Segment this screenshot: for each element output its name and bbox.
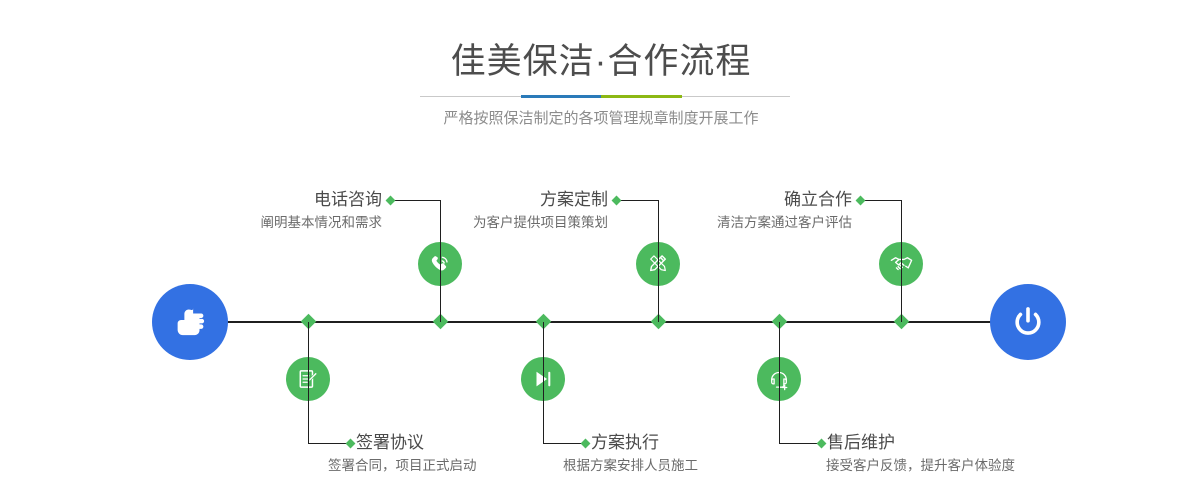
connector-h-6 [779, 443, 821, 444]
label-tick-4 [581, 439, 591, 449]
step-title-2: 签署协议 [356, 431, 477, 455]
connector-v-5 [901, 200, 902, 322]
step-label-6: 售后维护 接受客户反馈，提升客户体验度 [827, 431, 1015, 476]
page-title: 佳美保洁·合作流程 [0, 40, 1202, 84]
connector-v-6 [779, 322, 780, 444]
step-desc-2: 签署合同，项目正式启动 [328, 455, 477, 476]
step-title-6: 售后维护 [827, 431, 1015, 455]
connector-h-2 [308, 443, 350, 444]
step-desc-4: 根据方案安排人员施工 [563, 455, 698, 476]
step-label-3: 方案定制 为客户提供项目策策划 [350, 188, 608, 233]
divider-segment-green [601, 95, 682, 98]
flow-start-node [152, 284, 228, 360]
page-subtitle: 严格按照保洁制定的各项管理规章制度开展工作 [0, 108, 1202, 130]
step-desc-5: 清洁方案通过客户评估 [596, 212, 852, 233]
label-tick-6 [817, 439, 827, 449]
connector-v-4 [543, 322, 544, 444]
pointing-hand-icon [170, 302, 210, 342]
step-title-3: 方案定制 [350, 188, 608, 212]
step-desc-6: 接受客户反馈，提升客户体验度 [826, 455, 1015, 476]
divider-segment-blue [521, 95, 601, 98]
connector-h-4 [543, 443, 585, 444]
label-tick-2 [346, 439, 356, 449]
step-label-4: 方案执行 根据方案安排人员施工 [591, 431, 698, 476]
step-title-5: 确立合作 [596, 188, 852, 212]
step-label-2: 签署协议 签署合同，项目正式启动 [356, 431, 477, 476]
cooperation-flow-infographic: 佳美保洁·合作流程 严格按照保洁制定的各项管理规章制度开展工作 [0, 0, 1202, 502]
connector-h-5 [862, 200, 901, 201]
step-desc-3: 为客户提供项目策策划 [350, 212, 608, 233]
label-tick-5 [856, 196, 866, 206]
step-title-4: 方案执行 [591, 431, 698, 455]
connector-v-2 [308, 322, 309, 444]
step-title-1: 电话咨询 [120, 188, 382, 212]
flow-end-node [990, 284, 1066, 360]
power-icon [1007, 301, 1049, 343]
step-label-5: 确立合作 清洁方案通过客户评估 [596, 188, 852, 233]
step-label-1: 电话咨询 阐明基本情况和需求 [120, 188, 382, 233]
title-divider [420, 95, 790, 98]
step-desc-1: 阐明基本情况和需求 [120, 212, 382, 233]
